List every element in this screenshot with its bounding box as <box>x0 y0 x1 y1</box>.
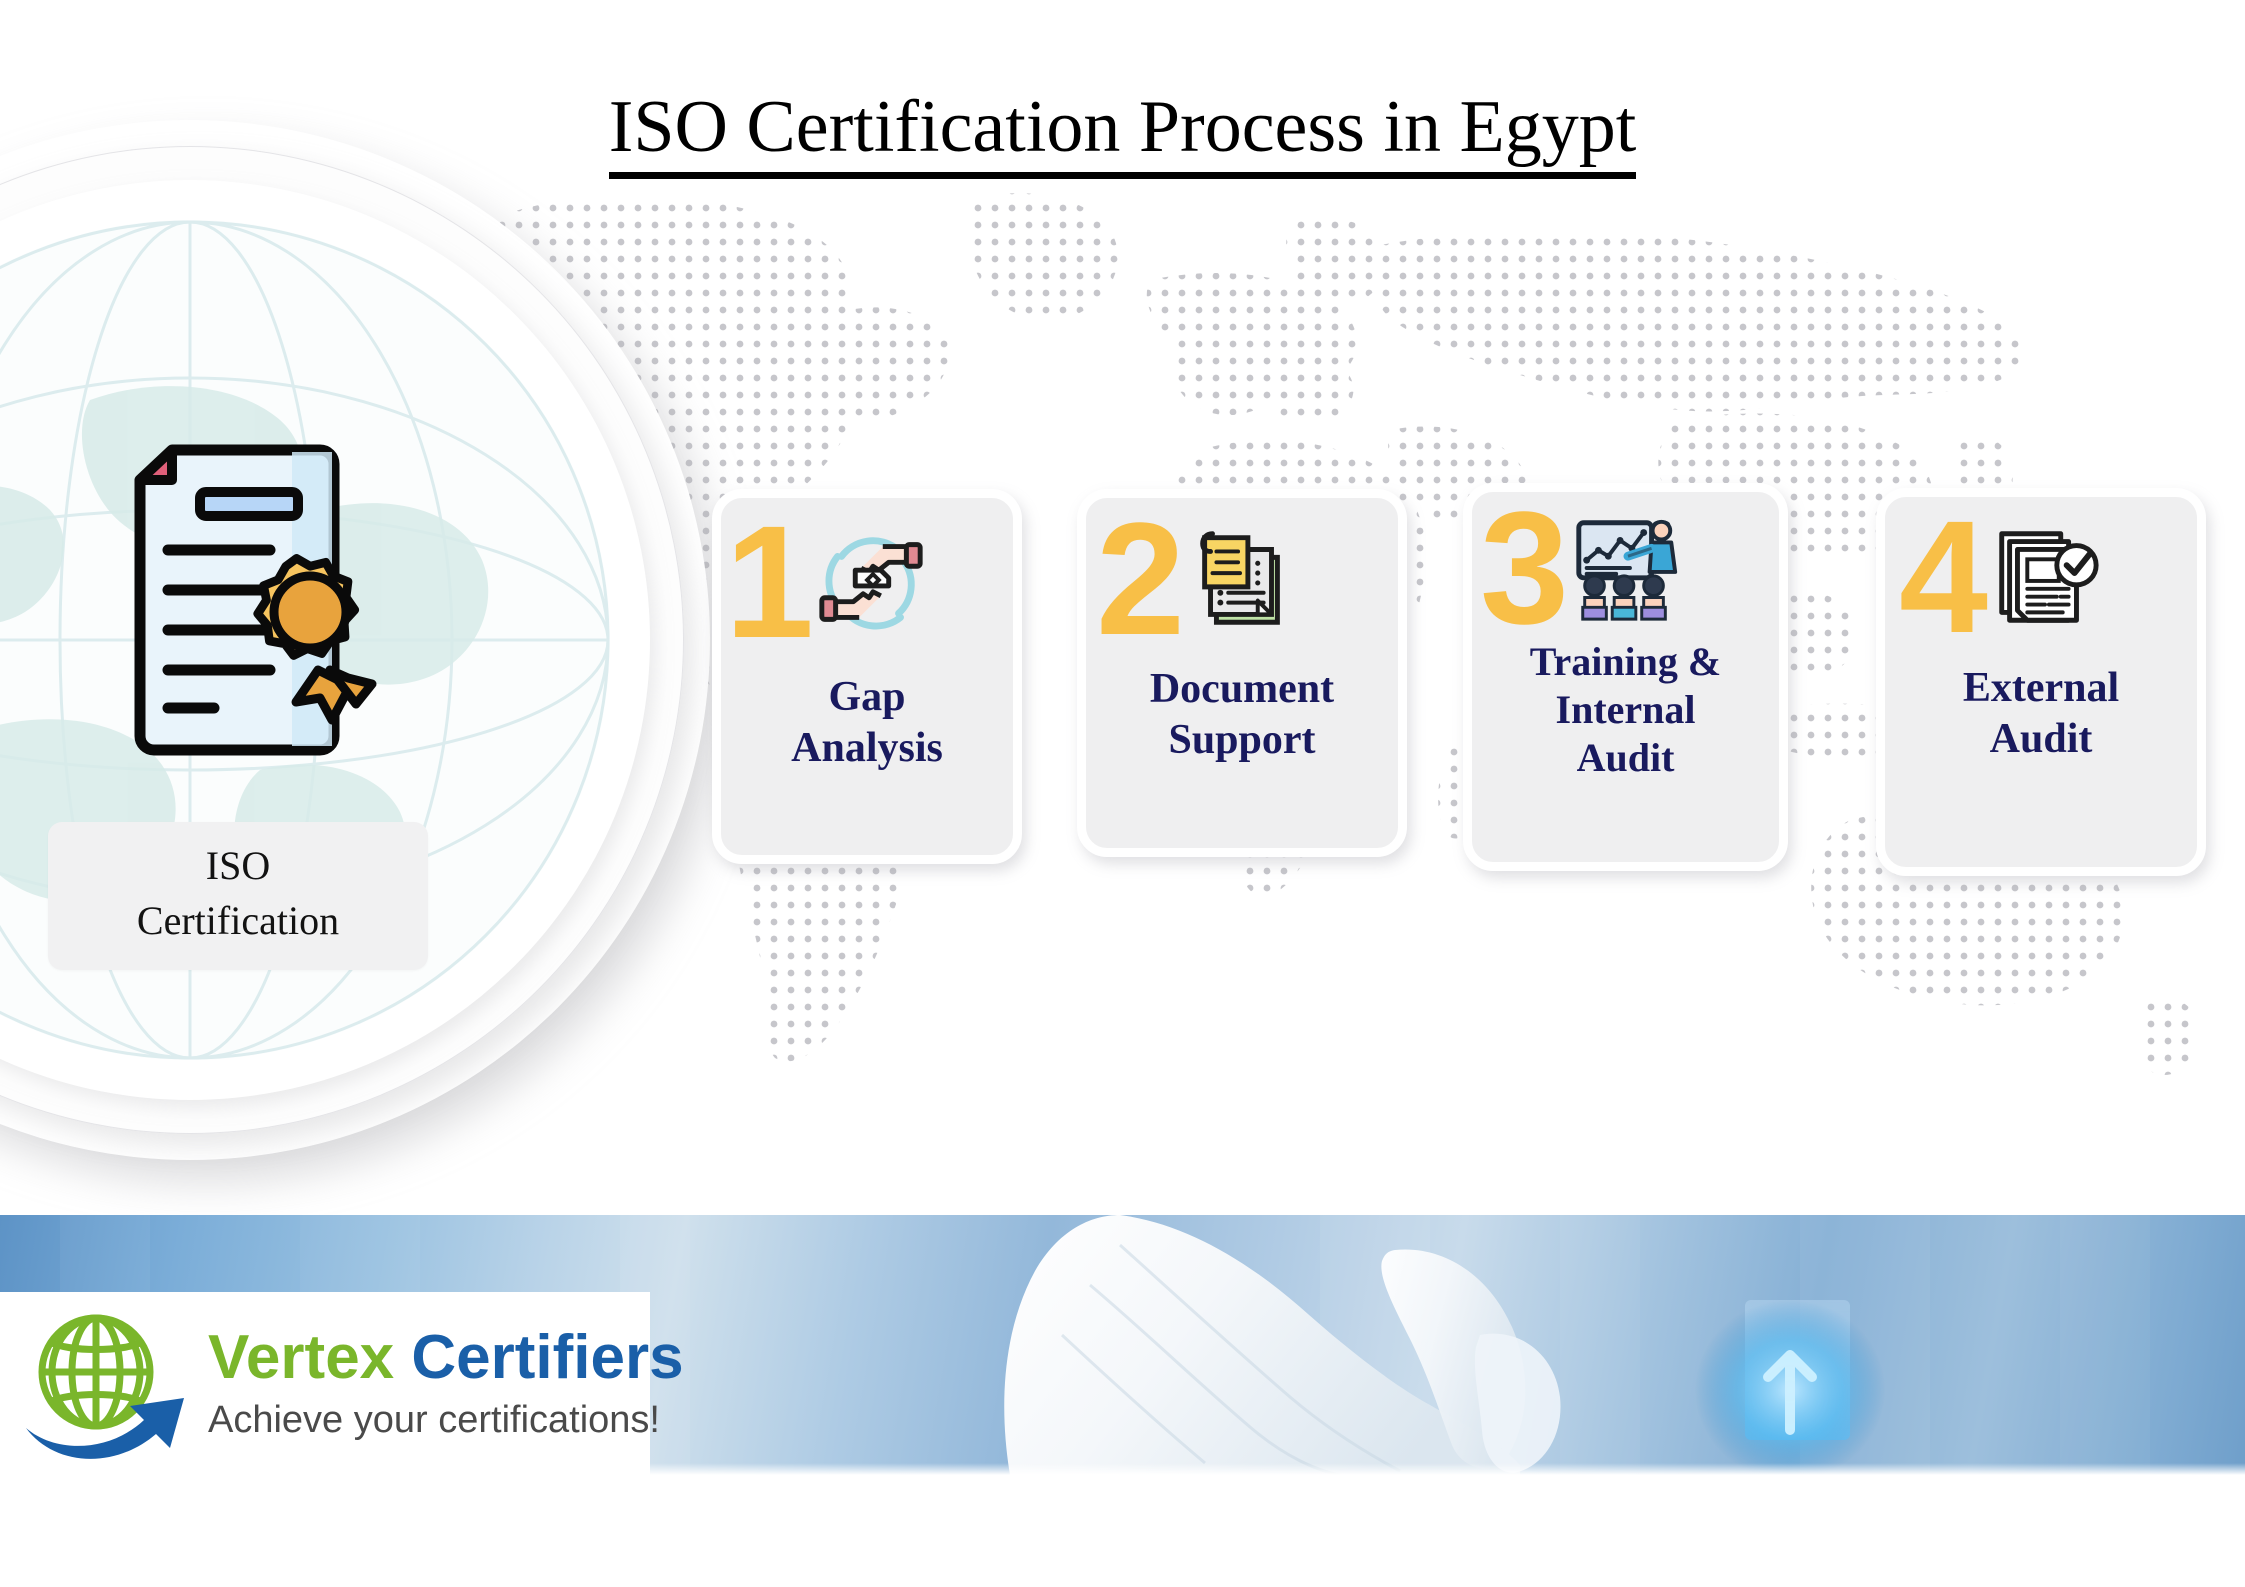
step-card-2-header: 2 <box>1086 498 1398 660</box>
step-2-label-line2: Support <box>1092 715 1392 766</box>
step-card-1-label: Gap Analysis <box>721 672 1013 774</box>
bottom-white-strip <box>0 1475 2245 1587</box>
step-2-label-line1: Document <box>1092 664 1392 715</box>
audit-documents-check-icon <box>1986 518 2104 636</box>
step-number-2: 2 <box>1096 499 1181 659</box>
step-card-2-label: Document Support <box>1086 664 1398 766</box>
step-card-4[interactable]: 4 Extern <box>1876 488 2206 876</box>
collaboration-handshake-icon <box>812 523 930 641</box>
logo-brand-name: Vertex Certifiers <box>208 1327 684 1389</box>
page-title: ISO Certification Process in Egypt <box>0 90 2245 179</box>
step-card-4-label: External Audit <box>1885 663 2197 765</box>
step-card-3[interactable]: 3 <box>1463 483 1788 871</box>
logo-text-block: Vertex Certifiers Achieve your certifica… <box>208 1327 684 1442</box>
infographic-stage: ISO Certification ISO Certification Proc… <box>0 0 2245 1587</box>
iso-certification-label: ISO Certification <box>48 822 428 970</box>
logo-brand-word2: Certifiers <box>411 1323 683 1392</box>
logo-tagline: Achieve your certifications! <box>208 1399 684 1442</box>
step-card-1-header: 1 <box>721 498 1013 666</box>
step-3-label-line3: Audit <box>1478 734 1773 782</box>
step-1-label-line1: Gap <box>727 672 1007 723</box>
step-4-label-line2: Audit <box>1891 714 2191 765</box>
iso-label-line1: ISO <box>58 838 418 893</box>
step-1-label-line2: Analysis <box>727 723 1007 774</box>
certificate-document-icon <box>80 440 380 760</box>
step-card-2[interactable]: 2 <box>1077 489 1407 857</box>
vertex-globe-arrow-logo-icon <box>18 1310 198 1460</box>
step-4-label-line1: External <box>1891 663 2191 714</box>
logo-brand-word1: Vertex <box>208 1323 394 1392</box>
step-number-3: 3 <box>1480 488 1565 648</box>
step-number-1: 1 <box>725 502 810 662</box>
iso-label-line2: Certification <box>58 893 418 948</box>
step-card-4-header: 4 <box>1885 497 2197 657</box>
step-card-3-label: Training & Internal Audit <box>1472 638 1779 782</box>
vertex-certifiers-logo: Vertex Certifiers Achieve your certifica… <box>0 1292 650 1477</box>
page-title-text: ISO Certification Process in Egypt <box>609 90 1637 179</box>
step-card-1[interactable]: 1 Gap Analysis <box>712 489 1022 864</box>
step-number-4: 4 <box>1899 497 1984 657</box>
step-3-label-line2: Internal <box>1478 686 1773 734</box>
training-presentation-icon <box>1567 509 1685 627</box>
step-card-3-header: 3 <box>1472 492 1779 644</box>
documents-clipboard-icon <box>1183 520 1301 638</box>
